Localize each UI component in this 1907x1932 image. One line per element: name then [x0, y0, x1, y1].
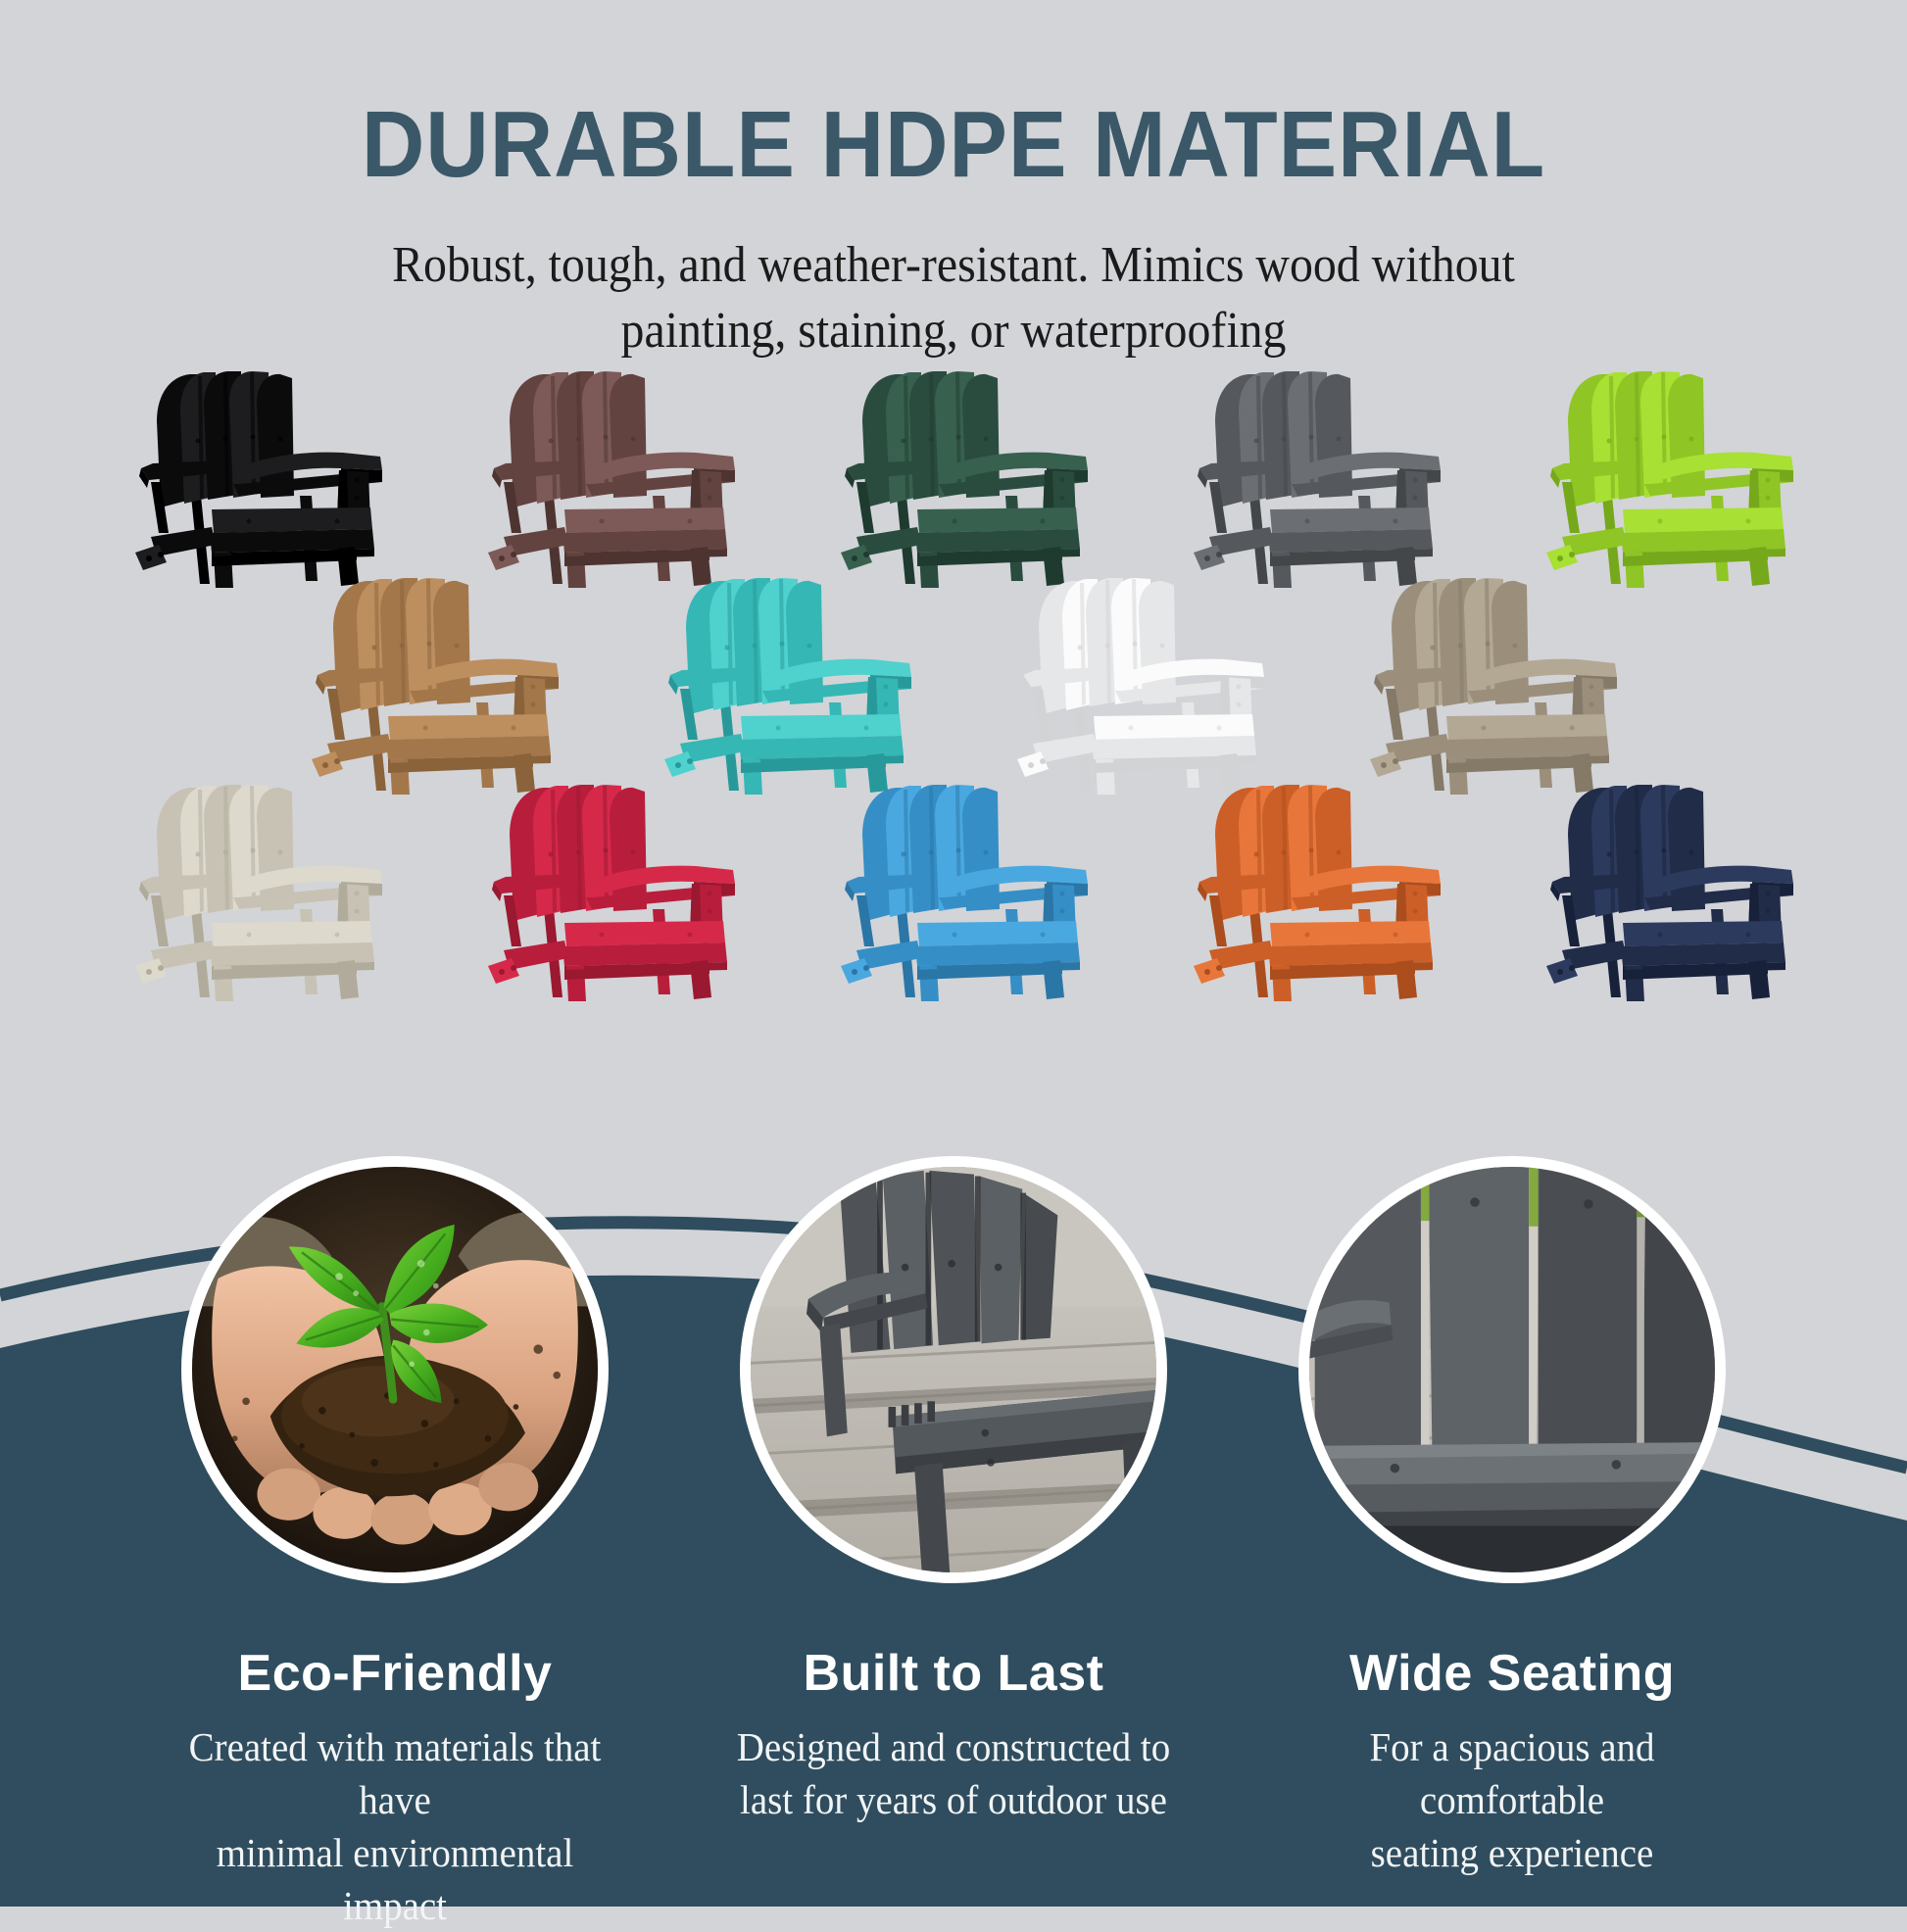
feature-title-built-to-last: Built to Last — [718, 1644, 1189, 1703]
chair-brown[interactable] — [449, 361, 753, 591]
chair-image-orange — [1154, 774, 1458, 1004]
chair-turquoise[interactable] — [625, 567, 929, 797]
subtitle-line-2: painting, staining, or waterproofing — [76, 299, 1831, 364]
chair-row-3 — [0, 774, 1907, 1004]
chair-khaki[interactable] — [1331, 567, 1635, 797]
hands-holding-seedling-in-soil-photo — [192, 1167, 598, 1572]
chair-white[interactable] — [978, 567, 1282, 797]
page-title: DURABLE HDPE MATERIAL — [67, 98, 1840, 192]
feature-wide-seating: Wide SeatingFor a spacious and comfortab… — [1277, 1156, 1747, 1932]
feature-title-eco-friendly: Eco-Friendly — [160, 1644, 630, 1703]
chair-image-red — [449, 774, 753, 1004]
chair-image-white — [978, 567, 1282, 797]
feature-image-built-to-last — [740, 1156, 1167, 1583]
chair-image-lime-green — [1507, 361, 1811, 591]
feature-description-wide-seating: For a spacious and comfortableseating ex… — [1289, 1720, 1736, 1879]
chair-row-1 — [0, 361, 1907, 591]
feature-desc-line-1: Designed and constructed to — [730, 1720, 1177, 1773]
feature-built-to-last: Built to LastDesigned and constructed to… — [718, 1156, 1189, 1932]
chair-image-dark-green — [802, 361, 1105, 591]
chair-image-teak — [272, 567, 576, 797]
chair-light-blue[interactable] — [802, 774, 1105, 1004]
feature-desc-line-2: last for years of outdoor use — [730, 1773, 1177, 1826]
chair-gray[interactable] — [1154, 361, 1458, 591]
chair-navy-blue[interactable] — [1507, 774, 1811, 1004]
chair-image-navy-blue — [1507, 774, 1811, 1004]
subtitle-line-1: Robust, tough, and weather-resistant. Mi… — [76, 233, 1831, 299]
chair-row-2 — [0, 567, 1907, 797]
chair-image-gray — [1154, 361, 1458, 591]
gray-chair-wide-seat-closeup-photo — [1309, 1167, 1715, 1572]
features-section: Eco-FriendlyCreated with materials that … — [0, 1156, 1907, 1932]
header: DURABLE HDPE MATERIAL Robust, tough, and… — [0, 0, 1907, 363]
chair-lime-green[interactable] — [1507, 361, 1811, 591]
chair-red[interactable] — [449, 774, 753, 1004]
gray-adirondack-chair-on-patio-photo — [751, 1167, 1156, 1572]
page-subtitle: Robust, tough, and weather-resistant. Mi… — [76, 233, 1831, 363]
chair-image-brown — [449, 361, 753, 591]
chair-black[interactable] — [96, 361, 400, 591]
chair-image-ivory — [96, 774, 400, 1004]
chair-color-grid — [0, 361, 1907, 1004]
chair-orange[interactable] — [1154, 774, 1458, 1004]
chair-teak[interactable] — [272, 567, 576, 797]
feature-eco-friendly: Eco-FriendlyCreated with materials that … — [160, 1156, 630, 1932]
chair-image-black — [96, 361, 400, 591]
feature-desc-line-2: seating experience — [1289, 1826, 1736, 1879]
feature-title-wide-seating: Wide Seating — [1277, 1644, 1747, 1703]
feature-desc-line-1: Created with materials that have — [171, 1720, 618, 1826]
chair-image-khaki — [1331, 567, 1635, 797]
feature-desc-line-1: For a spacious and comfortable — [1289, 1720, 1736, 1826]
feature-image-wide-seating — [1298, 1156, 1726, 1583]
feature-description-built-to-last: Designed and constructed tolast for year… — [730, 1720, 1177, 1826]
feature-row: Eco-FriendlyCreated with materials that … — [0, 1156, 1907, 1932]
feature-description-eco-friendly: Created with materials that haveminimal … — [171, 1720, 618, 1932]
chair-dark-green[interactable] — [802, 361, 1105, 591]
chair-image-turquoise — [625, 567, 929, 797]
feature-image-eco-friendly — [181, 1156, 609, 1583]
chair-image-light-blue — [802, 774, 1105, 1004]
feature-desc-line-2: minimal environmental impact — [171, 1826, 618, 1932]
chair-ivory[interactable] — [96, 774, 400, 1004]
